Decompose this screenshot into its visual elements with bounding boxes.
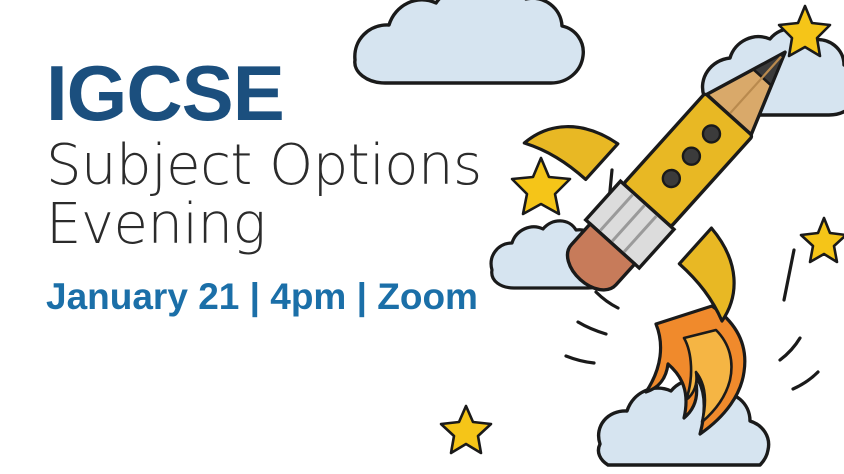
star-right — [801, 218, 844, 262]
poster-canvas: IGCSE Subject Options Evening January 21… — [0, 0, 844, 474]
cloud-bottom-right — [598, 380, 768, 465]
star-bottom — [441, 406, 491, 453]
page-title: IGCSE — [46, 56, 516, 130]
event-details: January 21 | 4pm | Zoom — [46, 277, 516, 318]
page-subtitle: Subject Options Evening — [46, 136, 516, 255]
poster-text-block: IGCSE Subject Options Evening January 21… — [46, 56, 516, 318]
star-mid-left — [512, 158, 570, 214]
